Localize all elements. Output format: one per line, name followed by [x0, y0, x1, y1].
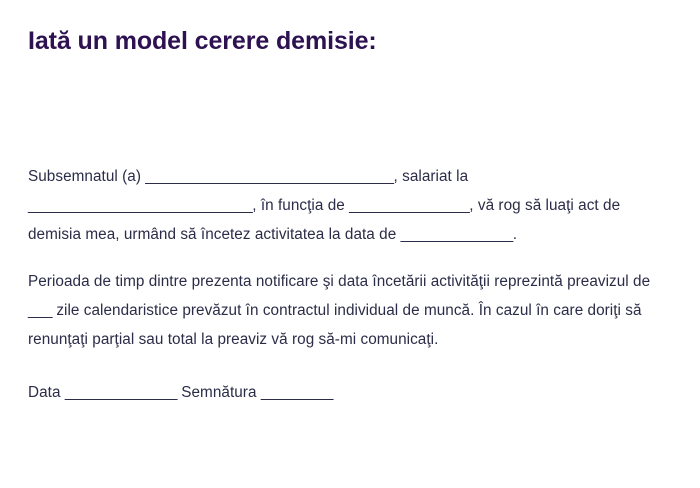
paragraph-signature-line: Data ______________ Semnătura _________ [28, 378, 676, 407]
blank-field-signature-date: ______________ [65, 384, 177, 401]
intro-text-period: . [513, 226, 517, 243]
intro-text-comma: , [469, 197, 473, 214]
page-title: Iată un model cerere demisie: [28, 26, 377, 56]
intro-text-in-functia-de: , în funcţia de [252, 197, 349, 214]
intro-text-salariat-la: , salariat la [394, 168, 469, 185]
paragraph-intro: Subsemnatul (a) ________________________… [28, 162, 676, 249]
blank-field-name: _______________________________ [145, 168, 393, 185]
blank-field-notice-days: ___ [28, 302, 52, 319]
blank-field-end-date: ______________ [401, 226, 513, 243]
label-data: Data [28, 384, 65, 401]
blank-field-company: ____________________________ [28, 197, 252, 214]
label-semnatura: Semnătura [181, 384, 261, 401]
blank-field-signature: _________ [261, 384, 333, 401]
document-page: Iată un model cerere demisie: Subsemnatu… [0, 0, 700, 488]
paragraph-notice-period: Perioada de timp dintre prezenta notific… [28, 267, 676, 354]
intro-text-subsemnatul: Subsemnatul (a) [28, 168, 145, 185]
blank-field-position: _______________ [349, 197, 469, 214]
notice-text-part1: Perioada de timp dintre prezenta notific… [28, 273, 650, 290]
notice-text-part2: zile calendaristice prevăzut în contract… [28, 302, 642, 348]
letter-body: Subsemnatul (a) ________________________… [28, 162, 676, 407]
